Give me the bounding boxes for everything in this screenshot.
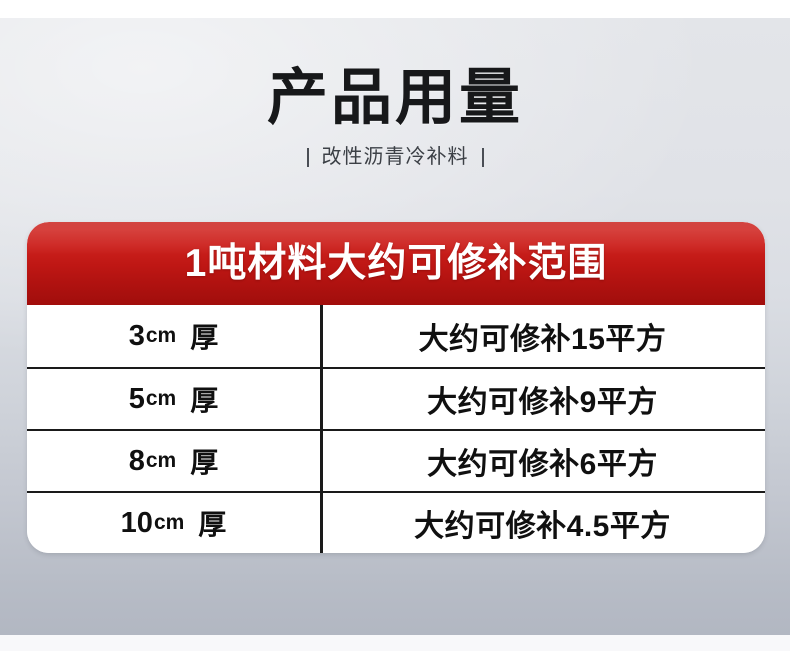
background-top-strip [0, 0, 790, 18]
table-column-divider [320, 305, 323, 553]
subtitle-right-bar-icon [482, 148, 484, 167]
background-bottom-strip [0, 635, 790, 651]
thickness-value: 8 [129, 445, 145, 478]
table-row: 5cm厚 大约可修补9平方 [27, 367, 765, 429]
cell-coverage: 大约可修补9平方 [320, 369, 765, 429]
cell-thickness: 5cm厚 [27, 369, 320, 429]
subtitle-text: 改性沥青冷补料 [322, 144, 469, 170]
cell-thickness: 10cm厚 [27, 493, 320, 553]
table-row: 8cm厚 大约可修补6平方 [27, 429, 765, 491]
thickness-word: 厚 [190, 441, 218, 481]
thickness-value: 5 [129, 383, 145, 416]
thickness-unit: cm [146, 324, 176, 348]
thickness-word: 厚 [198, 503, 226, 543]
thickness-word: 厚 [190, 379, 218, 419]
usage-table-body: 3cm厚 大约可修补15平方 5cm厚 大约可修补9平方 8cm厚 大约可修补6… [27, 305, 765, 553]
cell-thickness: 8cm厚 [27, 431, 320, 491]
thickness-value: 3 [129, 320, 145, 353]
thickness-unit: cm [146, 449, 176, 473]
thickness-unit: cm [146, 387, 176, 411]
cell-coverage: 大约可修补15平方 [320, 305, 765, 367]
cell-thickness: 3cm厚 [27, 305, 320, 367]
thickness-value: 10 [121, 507, 153, 540]
subtitle-row: 改性沥青冷补料 [0, 144, 790, 170]
cell-coverage: 大约可修补6平方 [320, 431, 765, 491]
table-row: 10cm厚 大约可修补4.5平方 [27, 491, 765, 553]
table-header-banner: 1吨材料大约可修补范围 [27, 222, 765, 305]
table-row: 3cm厚 大约可修补15平方 [27, 305, 765, 367]
usage-table-card: 1吨材料大约可修补范围 3cm厚 大约可修补15平方 5cm厚 大约可修补9平方… [27, 222, 765, 553]
thickness-unit: cm [154, 511, 184, 535]
cell-coverage: 大约可修补4.5平方 [320, 493, 765, 553]
table-header-title: 1吨材料大约可修补范围 [185, 241, 608, 287]
page-title: 产品用量 [0, 62, 790, 132]
subtitle-left-bar-icon [307, 148, 309, 167]
header-block: 产品用量 改性沥青冷补料 [0, 62, 790, 170]
product-usage-infographic: 产品用量 改性沥青冷补料 1吨材料大约可修补范围 3cm厚 大约可修补15平方 … [0, 0, 790, 651]
thickness-word: 厚 [190, 316, 218, 356]
